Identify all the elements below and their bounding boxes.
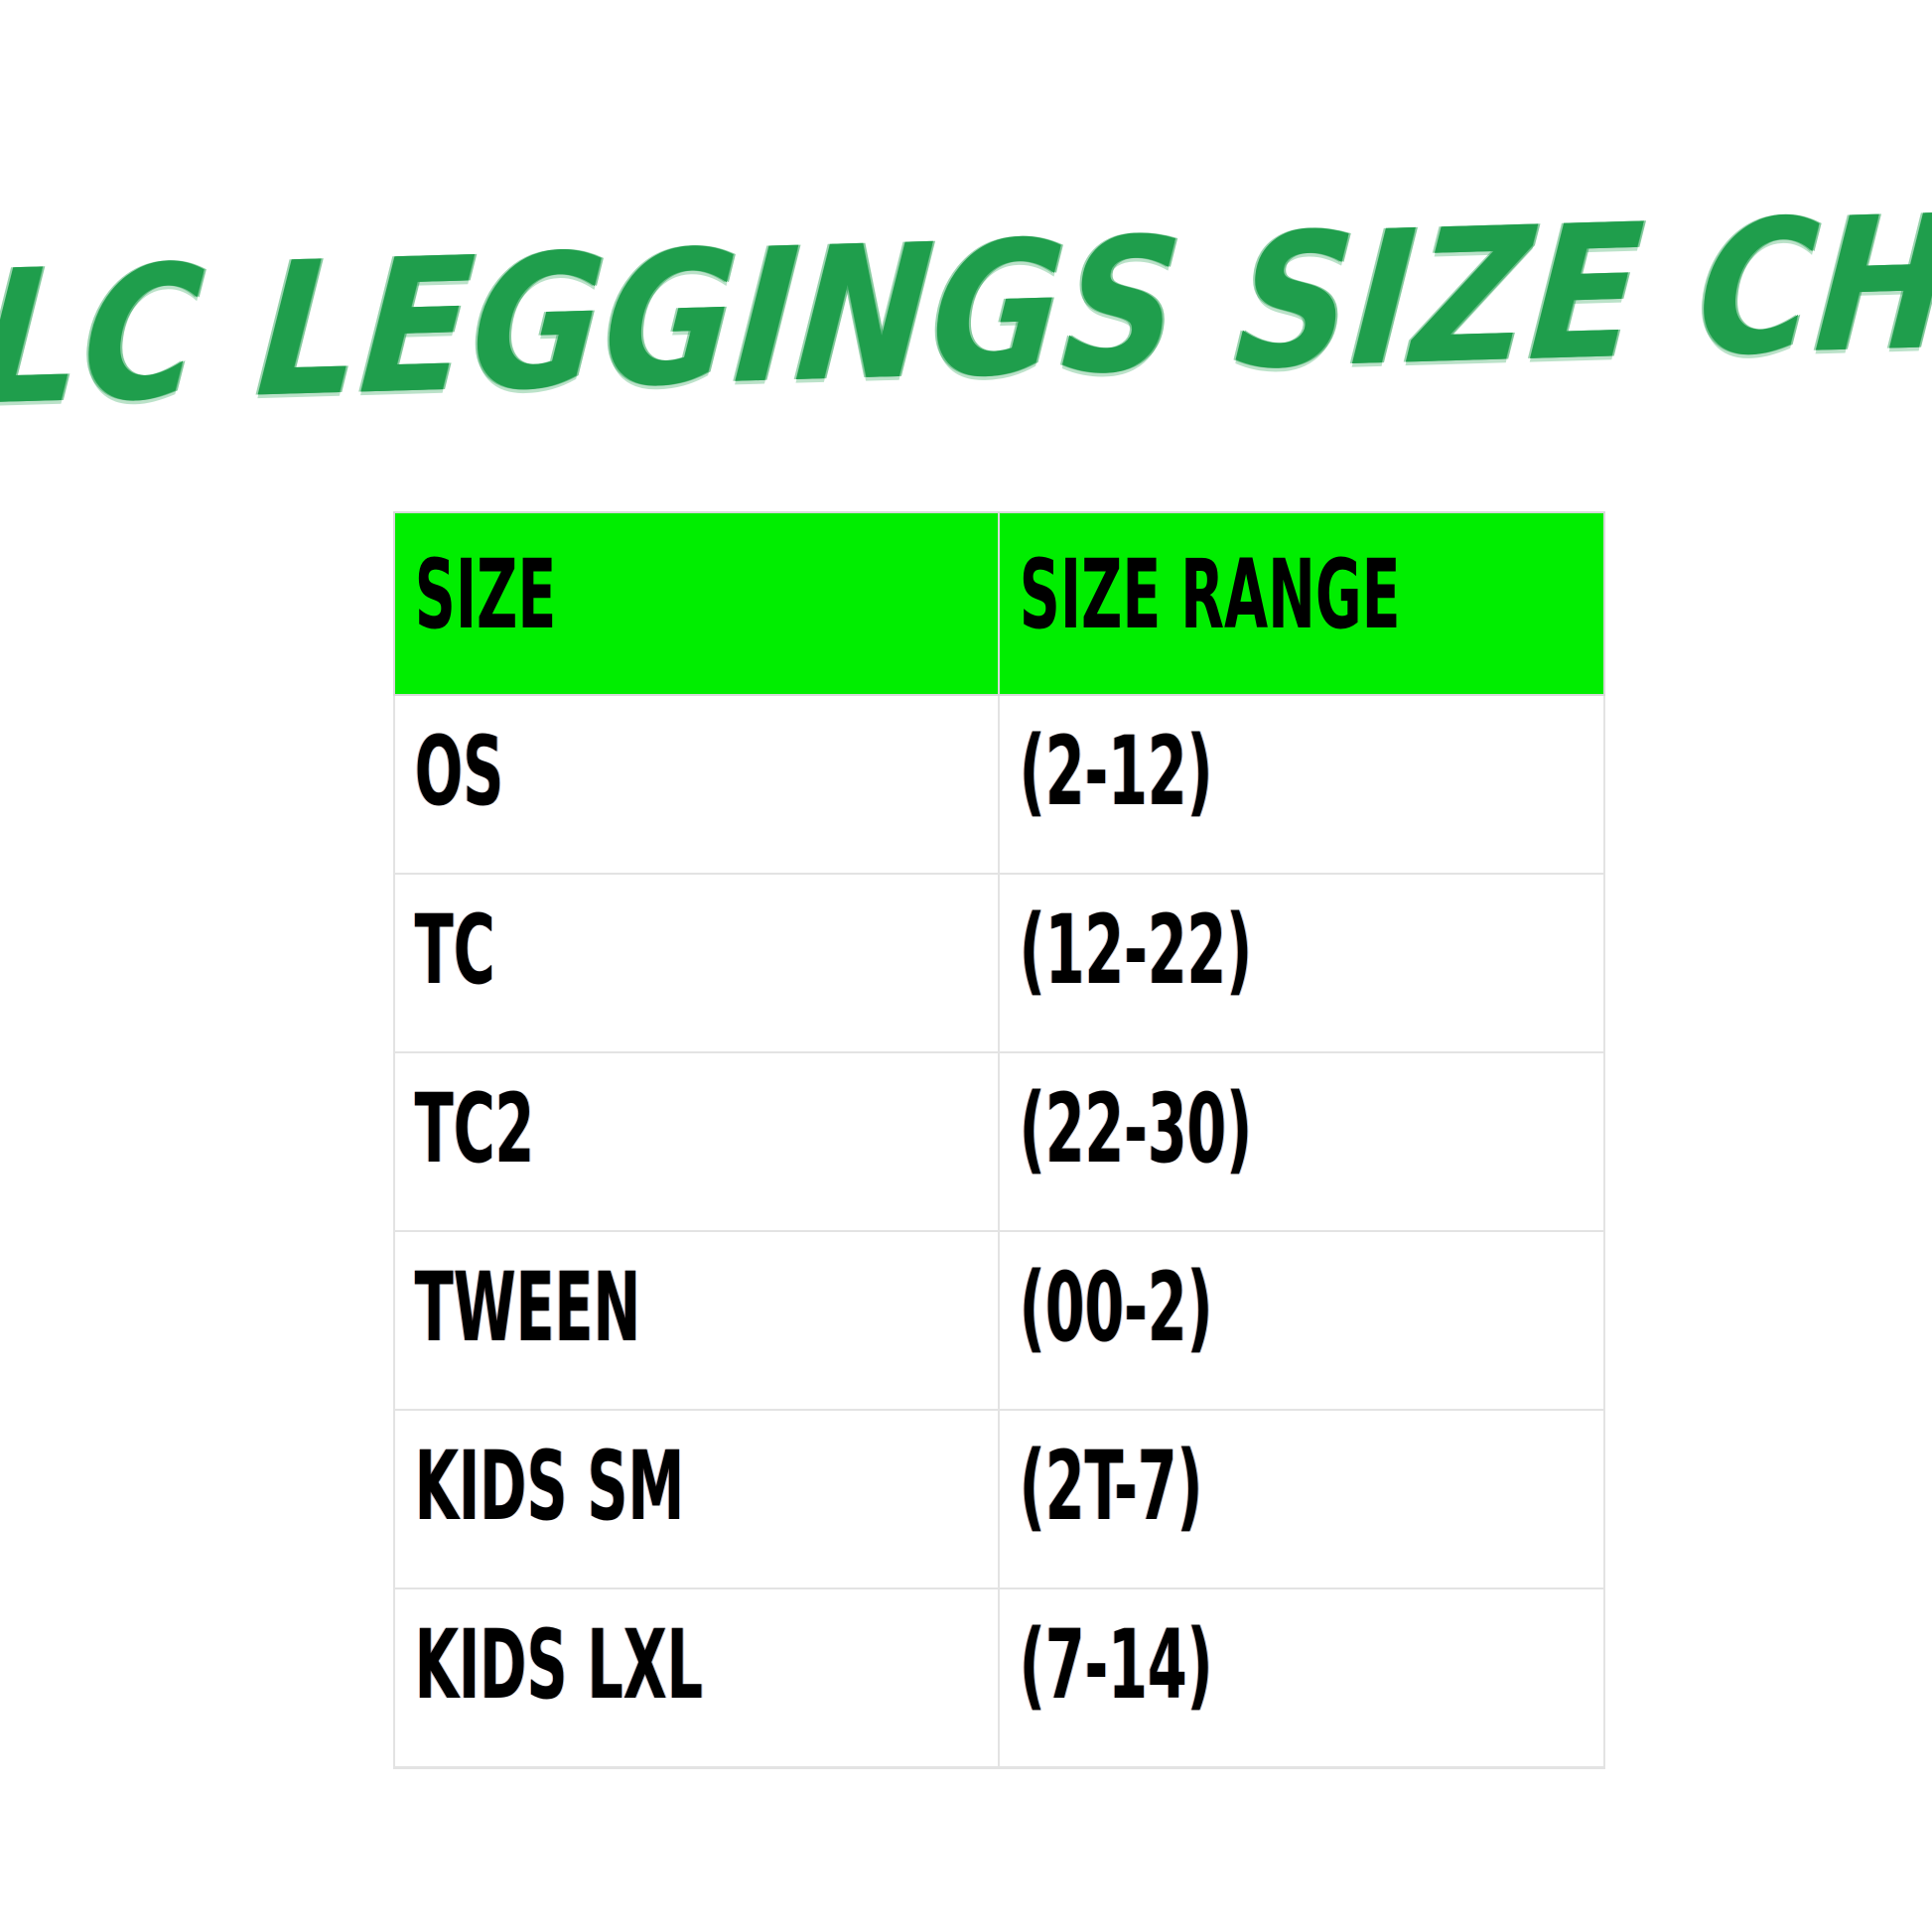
- column-header-size: SIZE: [394, 512, 999, 695]
- cell-size-range: (22-30): [999, 1052, 1604, 1231]
- cell-size-label: KIDS LXL: [395, 1589, 793, 1713]
- cell-size-range-label: (2-12): [1000, 696, 1398, 819]
- table-body: OS (2-12) TC (12-22) TC2 (22-30): [394, 695, 1604, 1768]
- cell-size: KIDS SM: [394, 1410, 999, 1588]
- cell-size-range: (12-22): [999, 874, 1604, 1052]
- cell-size-range: (2T-7): [999, 1410, 1604, 1588]
- cell-size-label: TC2: [395, 1053, 793, 1176]
- cell-size: OS: [394, 695, 999, 874]
- cell-size-label: OS: [395, 696, 793, 819]
- column-header-size-range-label: SIZE RANGE: [1000, 513, 1398, 642]
- column-header-size-range: SIZE RANGE: [999, 512, 1604, 695]
- cell-size-range-label: (12-22): [1000, 875, 1398, 998]
- cell-size-label: TC: [395, 875, 793, 998]
- size-chart-container: SIZE SIZE RANGE OS (2-12) TC: [393, 511, 1603, 1769]
- cell-size-range-label: (00-2): [1000, 1232, 1398, 1355]
- table-row: OS (2-12): [394, 695, 1604, 874]
- column-header-size-label: SIZE: [395, 513, 793, 642]
- table-row: KIDS LXL (7-14): [394, 1588, 1604, 1768]
- page-title: GCLLC LEGGINGS SIZE CHART: [0, 182, 1932, 443]
- table-header-row: SIZE SIZE RANGE: [394, 512, 1604, 695]
- cell-size: TC2: [394, 1052, 999, 1231]
- cell-size-label: TWEEN: [395, 1232, 793, 1355]
- cell-size-range: (00-2): [999, 1231, 1604, 1410]
- cell-size-range-label: (2T-7): [1000, 1411, 1398, 1534]
- table-header: SIZE SIZE RANGE: [394, 512, 1604, 695]
- size-chart-table: SIZE SIZE RANGE OS (2-12) TC: [393, 511, 1605, 1769]
- table-row: TC (12-22): [394, 874, 1604, 1052]
- page-title-area: GCLLC LEGGINGS SIZE CHART: [0, 212, 1932, 411]
- cell-size-range-label: (22-30): [1000, 1053, 1398, 1176]
- table-row: KIDS SM (2T-7): [394, 1410, 1604, 1588]
- cell-size-range: (7-14): [999, 1588, 1604, 1768]
- cell-size-range-label: (7-14): [1000, 1589, 1398, 1713]
- table-row: TC2 (22-30): [394, 1052, 1604, 1231]
- cell-size: TWEEN: [394, 1231, 999, 1410]
- cell-size-range: (2-12): [999, 695, 1604, 874]
- cell-size-label: KIDS SM: [395, 1411, 793, 1534]
- cell-size: TC: [394, 874, 999, 1052]
- table-row: TWEEN (00-2): [394, 1231, 1604, 1410]
- cell-size: KIDS LXL: [394, 1588, 999, 1768]
